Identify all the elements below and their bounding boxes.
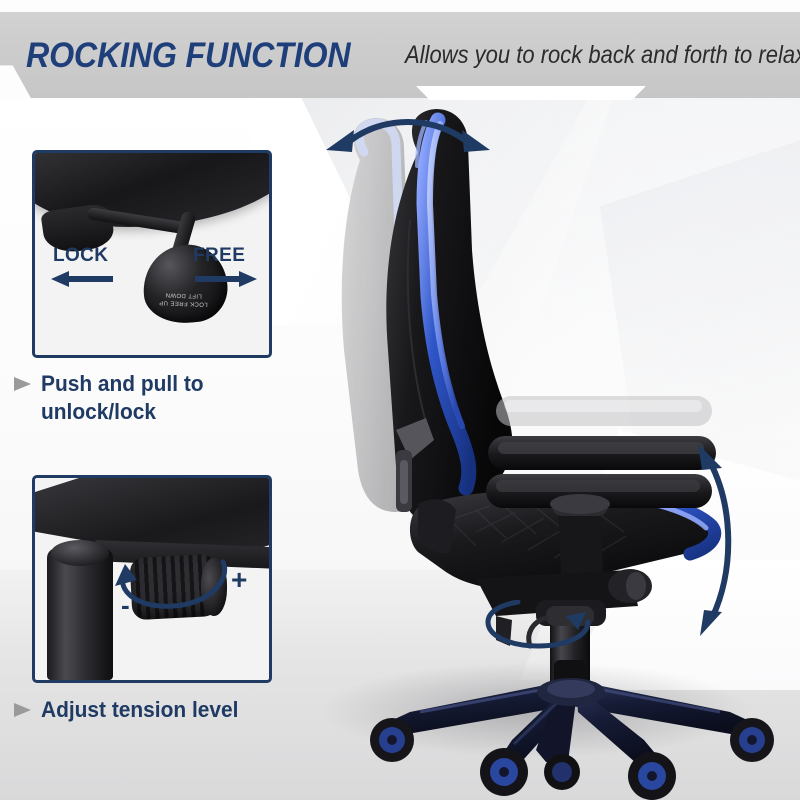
tension-minus-label: - xyxy=(121,590,130,621)
caption-lock: Push and pull to unlock/lock xyxy=(14,370,274,426)
tension-plus-label: + xyxy=(231,564,247,596)
page-title: ROCKING FUNCTION xyxy=(26,38,350,73)
gas-cylinder xyxy=(47,548,113,680)
detail-panel-tension-knob: - + xyxy=(32,475,272,683)
lock-label: LOCK xyxy=(53,245,108,267)
gas-cylinder-cap xyxy=(51,540,109,566)
tension-rotation-arrow-icon xyxy=(111,546,241,623)
caption-lock-text: Push and pull to unlock/lock xyxy=(41,370,262,426)
rock-arc-arrow xyxy=(318,112,498,158)
detail-panel-lock-lever: LOCK FREE UP LIFT DOWN LOCK FREE xyxy=(32,150,272,358)
swivel-arrow xyxy=(470,600,610,652)
free-label: FREE xyxy=(193,245,245,267)
header: ROCKING FUNCTION Allows you to rock back… xyxy=(0,12,800,98)
arrow-bullet-icon xyxy=(14,703,31,717)
caption-tension: Adjust tension level xyxy=(14,696,274,724)
free-direction-arrow-icon xyxy=(195,271,257,285)
lock-direction-arrow-icon xyxy=(51,271,113,285)
ghost-armrest xyxy=(496,396,712,426)
arrow-bullet-icon xyxy=(14,377,31,391)
infographic-canvas: ROCKING FUNCTION Allows you to rock back… xyxy=(0,0,800,800)
recline-arrow xyxy=(690,440,746,640)
caption-tension-text: Adjust tension level xyxy=(41,696,238,724)
lock-lever-photo: LOCK FREE UP LIFT DOWN LOCK FREE xyxy=(35,153,269,355)
page-subtitle: Allows you to rock back and forth to rel… xyxy=(405,43,800,68)
tension-knob-photo: - + xyxy=(35,478,269,680)
